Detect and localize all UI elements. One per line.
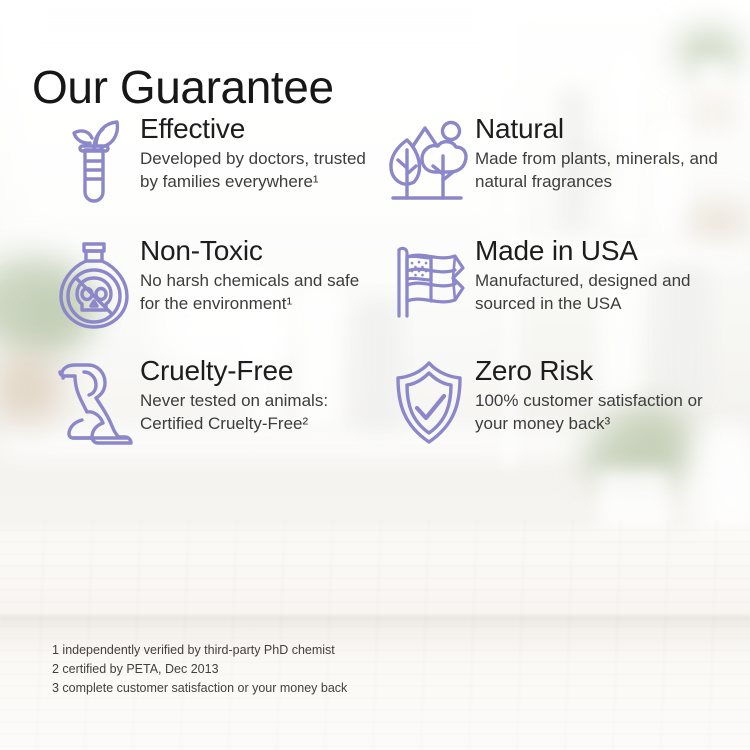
usa-flag-icon bbox=[383, 234, 475, 324]
features-grid: Effective Developed by doctors, trusted … bbox=[0, 112, 750, 448]
shield-check-icon bbox=[383, 354, 475, 448]
feature-description: No harsh chemicals and safe for the envi… bbox=[140, 270, 375, 315]
test-tube-plant-icon bbox=[48, 112, 140, 212]
page-title: Our Guarantee bbox=[32, 62, 334, 113]
feature-title: Cruelty-Free bbox=[140, 354, 375, 387]
footnotes: 1 independently verified by third-party … bbox=[52, 641, 347, 698]
feature-text-natural: Natural Made from plants, minerals, and … bbox=[475, 112, 750, 193]
feature-description: 100% customer satisfaction or your money… bbox=[475, 390, 727, 435]
feature-card-made-in-usa: Made in USA Manufactured, designed and s… bbox=[375, 234, 750, 332]
feature-text-made-in-usa: Made in USA Manufactured, designed and s… bbox=[475, 234, 750, 315]
footnote-1: 1 independently verified by third-party … bbox=[52, 641, 347, 660]
trees-nature-icon bbox=[383, 112, 475, 208]
feature-title: Effective bbox=[140, 112, 375, 145]
feature-text-effective: Effective Developed by doctors, trusted … bbox=[140, 112, 375, 193]
content-layer: Our Guarantee bbox=[0, 0, 750, 750]
features-row-1: Effective Developed by doctors, trusted … bbox=[0, 112, 750, 212]
feature-title: Zero Risk bbox=[475, 354, 750, 387]
poison-flask-skull-icon bbox=[48, 234, 140, 332]
feature-title: Made in USA bbox=[475, 234, 750, 267]
feature-card-non-toxic: Non-Toxic No harsh chemicals and safe fo… bbox=[0, 234, 375, 332]
feature-text-non-toxic: Non-Toxic No harsh chemicals and safe fo… bbox=[140, 234, 375, 315]
footnote-3: 3 complete customer satisfaction or your… bbox=[52, 679, 347, 698]
feature-title: Non-Toxic bbox=[140, 234, 375, 267]
feature-text-zero-risk: Zero Risk 100% customer satisfaction or … bbox=[475, 354, 750, 435]
feature-text-cruelty-free: Cruelty-Free Never tested on animals: Ce… bbox=[140, 354, 375, 435]
feature-description: Never tested on animals: Certified Cruel… bbox=[140, 390, 375, 435]
feature-description: Made from plants, minerals, and natural … bbox=[475, 148, 727, 193]
feature-card-cruelty-free: Cruelty-Free Never tested on animals: Ce… bbox=[0, 354, 375, 448]
guarantee-infographic: Our Guarantee bbox=[0, 0, 750, 750]
feature-description: Manufactured, designed and sourced in th… bbox=[475, 270, 727, 315]
features-row-2: Non-Toxic No harsh chemicals and safe fo… bbox=[0, 234, 750, 332]
feature-card-effective: Effective Developed by doctors, trusted … bbox=[0, 112, 375, 212]
footnote-2: 2 certified by PETA, Dec 2013 bbox=[52, 660, 347, 679]
features-row-3: Cruelty-Free Never tested on animals: Ce… bbox=[0, 354, 750, 448]
sitting-dog-icon bbox=[48, 354, 140, 448]
feature-card-natural: Natural Made from plants, minerals, and … bbox=[375, 112, 750, 212]
feature-title: Natural bbox=[475, 112, 750, 145]
feature-description: Developed by doctors, trusted by familie… bbox=[140, 148, 375, 193]
feature-card-zero-risk: Zero Risk 100% customer satisfaction or … bbox=[375, 354, 750, 448]
